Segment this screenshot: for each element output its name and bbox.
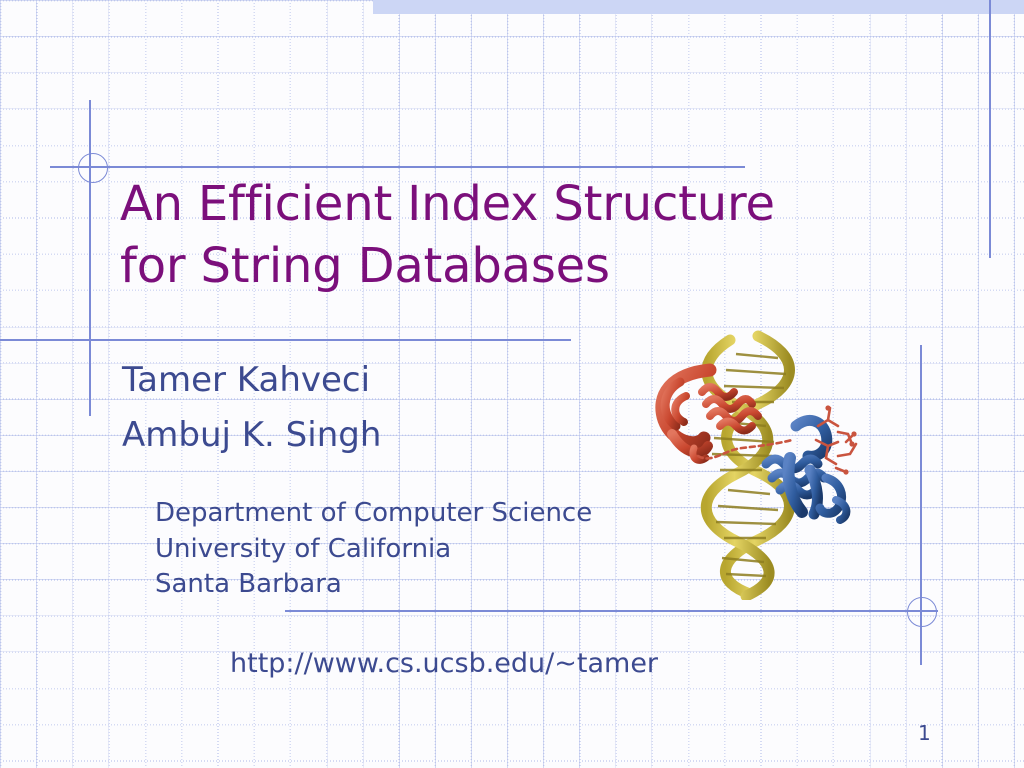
- decor-circle-top-left: [78, 153, 108, 183]
- affiliation-line-1: Department of Computer Science: [155, 496, 592, 532]
- title-line-1: An Efficient Index Structure: [120, 174, 910, 236]
- decor-line-bottom-horizontal: [285, 610, 938, 612]
- top-accent-band: [373, 0, 1024, 14]
- author-list: Tamer Kahveci Ambuj K. Singh: [122, 353, 381, 464]
- presentation-slide: An Efficient Index Structure for String …: [0, 0, 1024, 768]
- slide-title: An Efficient Index Structure for String …: [120, 174, 910, 298]
- author-name-1: Tamer Kahveci: [122, 353, 381, 408]
- dna-protein-complex-image: [650, 330, 880, 600]
- decor-line-middle-horizontal: [0, 339, 571, 341]
- decor-line-top-horizontal: [50, 166, 745, 168]
- decor-line-right-vertical-top: [989, 0, 991, 258]
- author-website-url[interactable]: http://www.cs.ucsb.edu/~tamer: [230, 648, 658, 679]
- decor-line-left-vertical-top: [89, 100, 91, 416]
- decor-circle-bottom-right: [907, 597, 937, 627]
- affiliation-block: Department of Computer Science Universit…: [155, 496, 592, 603]
- title-line-2: for String Databases: [120, 236, 910, 298]
- page-number: 1: [918, 721, 931, 745]
- affiliation-line-2: University of California: [155, 532, 592, 568]
- affiliation-line-3: Santa Barbara: [155, 567, 592, 603]
- author-name-2: Ambuj K. Singh: [122, 408, 381, 463]
